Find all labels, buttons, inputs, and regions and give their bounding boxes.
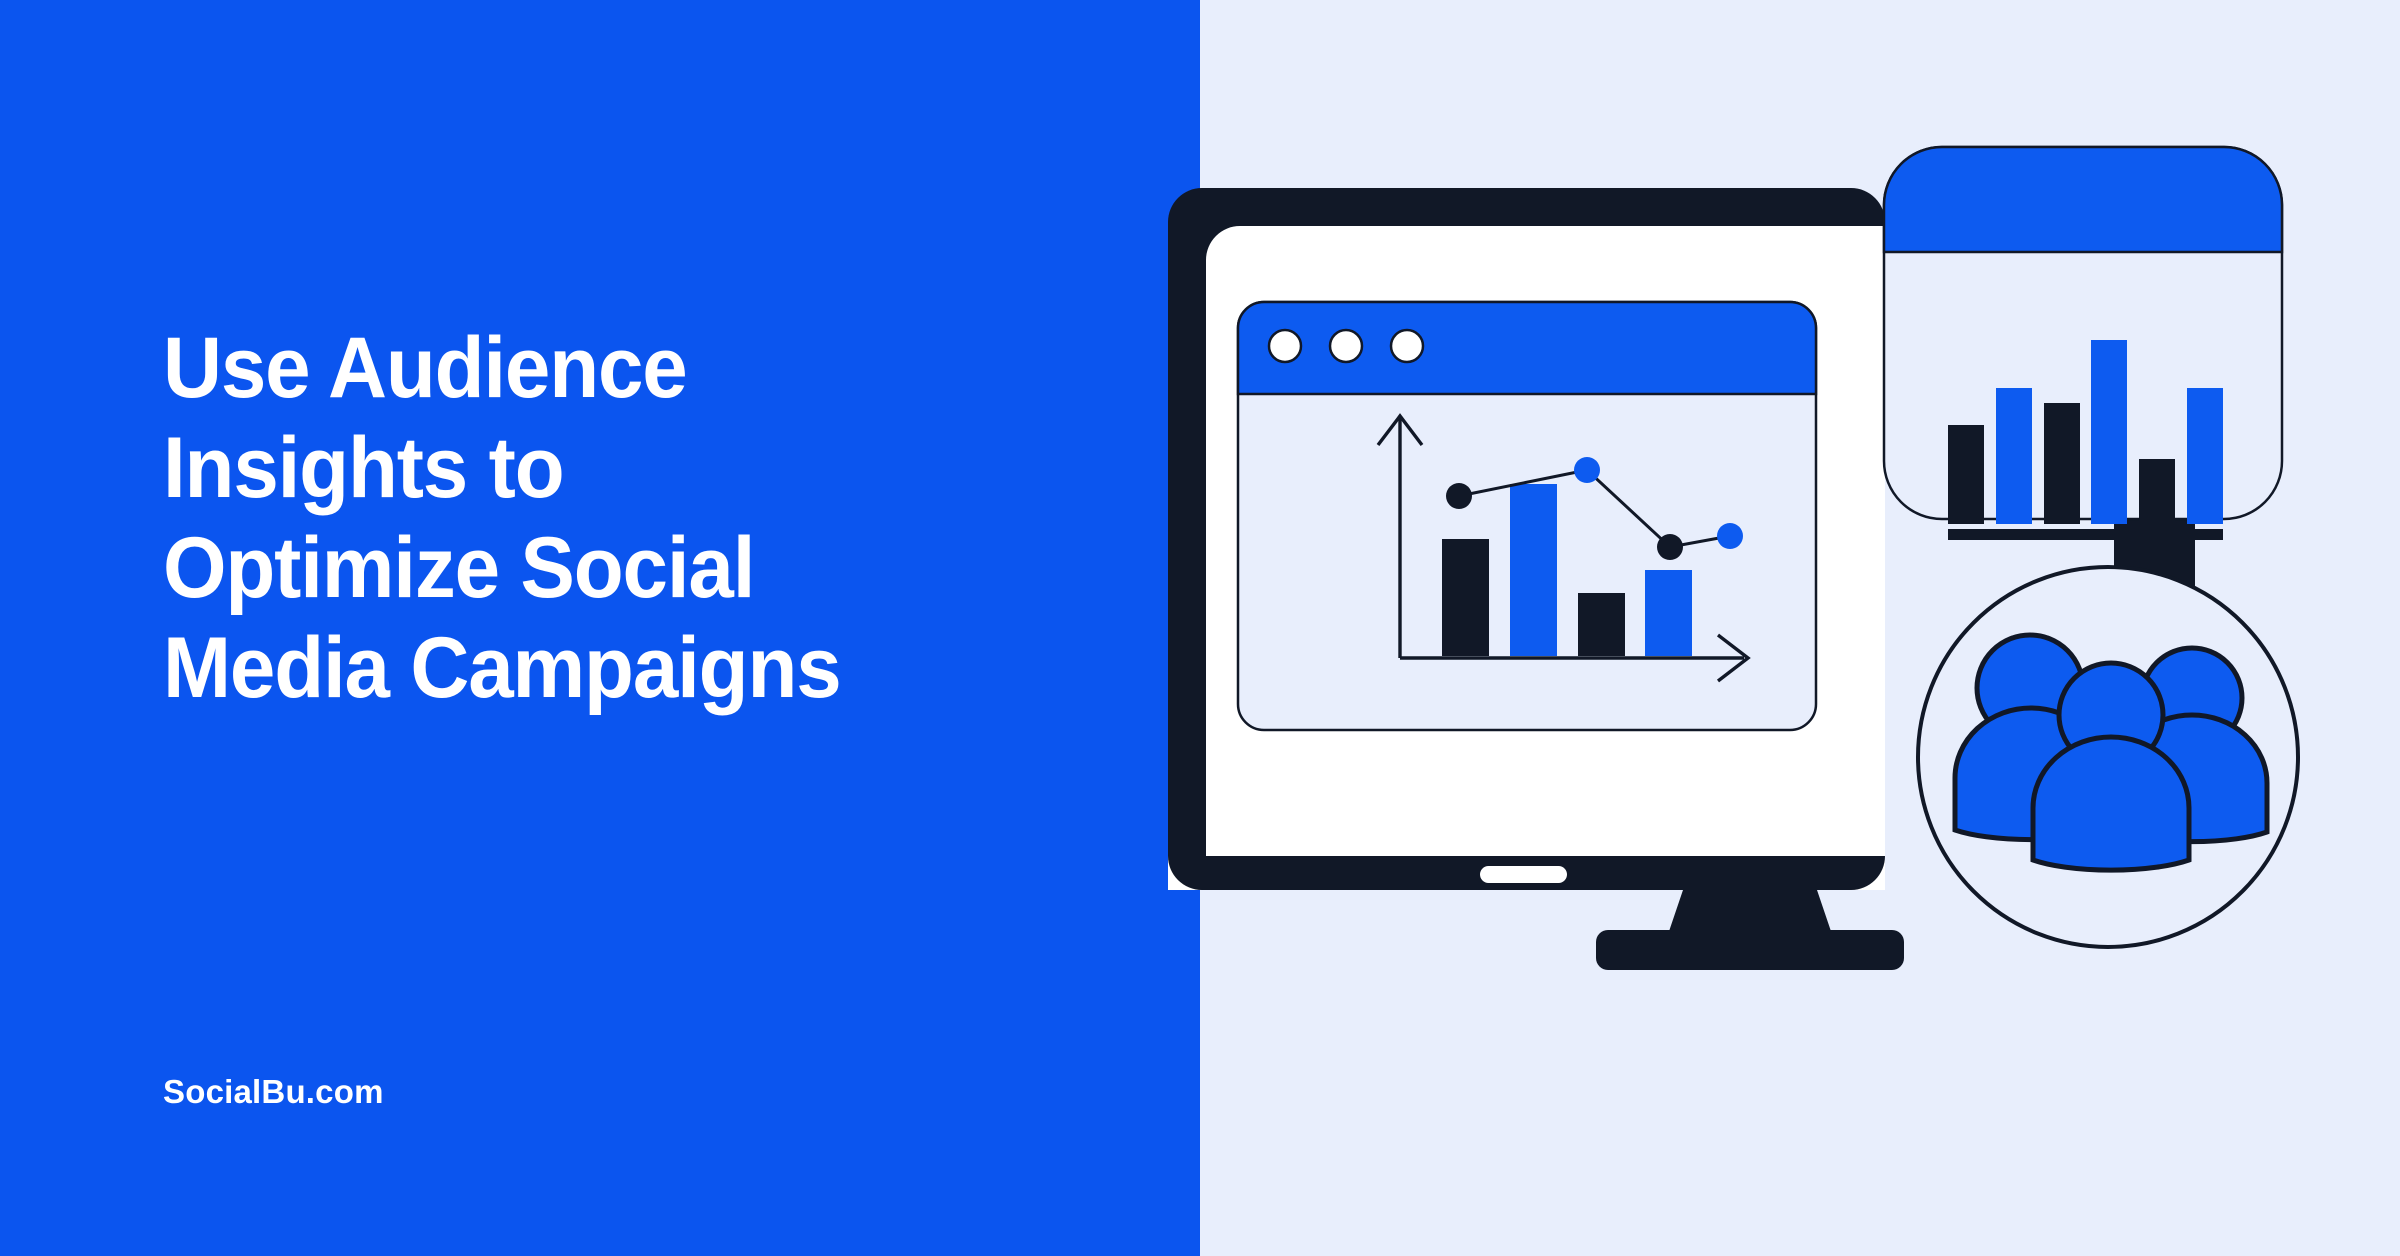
browser-titlebar [1238,302,1816,394]
chart-point-1 [1446,483,1472,509]
monitor-power-pill [1480,866,1567,883]
card-bar-2 [1996,388,2032,524]
card-bar-5 [2139,459,2175,524]
headline-line-4: Media Campaigns [163,618,1123,718]
chart-bar-4 [1645,570,1692,656]
headline-line-3: Optimize Social [163,518,1123,618]
card-bar-3 [2044,403,2080,524]
card-header [1884,147,2282,252]
social-media-banner: Use Audience Insights to Optimize Social… [0,0,2400,1256]
audience-people-circle [1918,567,2298,947]
card-bar-1 [1948,425,1984,524]
browser-dot-maximize [1391,330,1423,362]
page-title: Use Audience Insights to Optimize Social… [163,318,1123,718]
chart-bar-2 [1510,484,1557,656]
bar-chart-card [1884,147,2282,540]
browser-window [1238,302,1816,730]
browser-dot-minimize [1330,330,1362,362]
chart-point-3 [1657,534,1683,560]
chart-bar-3 [1578,593,1625,656]
browser-dot-close [1269,330,1301,362]
card-chart-baseline [1948,529,2223,540]
monitor-stand-base [1596,930,1904,970]
card-bar-4 [2091,340,2127,524]
card-bar-6 [2187,388,2223,524]
headline-line-2: Insights to [163,418,1123,518]
analytics-illustration [1150,130,2400,1130]
site-name-label: SocialBu.com [163,1073,384,1111]
chart-point-4 [1717,523,1743,549]
headline-line-1: Use Audience [163,318,1123,418]
chart-bar-1 [1442,539,1489,656]
monitor-graphic [1168,188,1904,970]
chart-point-2 [1574,457,1600,483]
